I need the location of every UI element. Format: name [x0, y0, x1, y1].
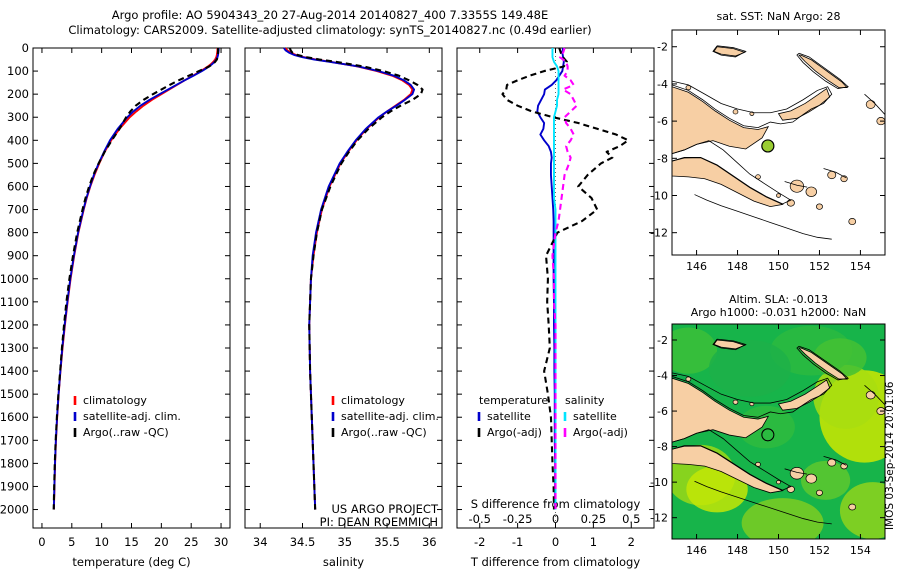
- legend-header-temperature: temperature: [479, 394, 548, 407]
- x-tick-label-salinity: -0.5: [469, 512, 491, 526]
- island: [806, 474, 817, 483]
- float-position-marker: [762, 140, 774, 152]
- island: [866, 391, 875, 399]
- x-tick-label: 152: [809, 544, 830, 557]
- x-tick-label: 34: [253, 535, 268, 549]
- panel-frame: [245, 48, 442, 528]
- landmass: [799, 55, 847, 88]
- series-argo---raw--qc-: [290, 48, 423, 510]
- y-tick-label: 200: [7, 87, 29, 101]
- island: [849, 218, 856, 224]
- sst-map-title: sat. SST: NaN Argo: 28: [717, 10, 841, 23]
- x-tick-label: 146: [686, 260, 707, 273]
- x-tick-label: 148: [727, 544, 748, 557]
- landmass: [672, 158, 783, 207]
- x-axis-label: salinity: [323, 555, 364, 569]
- island: [806, 187, 817, 197]
- x-axis-label-temperature: T difference from climatology: [470, 555, 641, 569]
- x-tick-label-temperature: -1: [512, 535, 523, 549]
- x-tick-label-temperature: 2: [628, 535, 635, 549]
- island: [733, 400, 738, 404]
- legend-label: Argo(..raw -QC): [83, 426, 169, 439]
- legend-label: satellite-adj. clim.: [341, 410, 439, 423]
- profile-panels: 0100200300400500600700800900100011001200…: [0, 0, 660, 580]
- map-content: [672, 46, 885, 239]
- y-tick-label: 100: [7, 64, 29, 78]
- y-tick-label: -8: [657, 441, 668, 454]
- sla-contour-patch: [660, 328, 717, 374]
- island: [787, 200, 794, 207]
- x-tick-label: 152: [809, 260, 830, 273]
- island: [816, 490, 822, 495]
- y-tick-label: 1800: [0, 456, 29, 470]
- y-tick-label: 1000: [0, 272, 29, 286]
- x-tick-label: 35: [337, 535, 352, 549]
- landmass: [672, 87, 768, 154]
- x-tick-label: 150: [768, 544, 789, 557]
- y-tick-label: 300: [7, 110, 29, 124]
- legend-label: Argo(..raw -QC): [341, 426, 427, 439]
- y-tick-label: 900: [7, 249, 29, 263]
- principal-investigator-label: PI: DEAN ROEMMICH: [320, 515, 438, 529]
- y-tick-label: -12: [650, 227, 668, 240]
- y-tick-label: -4: [657, 78, 668, 91]
- island: [776, 480, 780, 484]
- y-tick-label: 0: [22, 41, 29, 55]
- y-tick-label: -10: [650, 189, 668, 202]
- y-tick-label: 700: [7, 203, 29, 217]
- y-tick-label: 1600: [0, 410, 29, 424]
- x-tick-label: 30: [214, 535, 229, 549]
- island: [733, 110, 738, 114]
- island: [849, 504, 856, 510]
- y-tick-label: 1200: [0, 318, 29, 332]
- y-tick-label: -6: [657, 405, 668, 418]
- panel-frame: [33, 48, 230, 528]
- legend-label: climatology: [83, 394, 147, 407]
- sla-map-title-line-1: Altim. SLA: -0.013: [729, 293, 828, 306]
- x-tick-label-salinity: 0.5: [622, 512, 640, 526]
- x-tick-label: 150: [768, 260, 789, 273]
- sla-map: 146148150152154-2-4-6-8-10-12: [650, 324, 900, 557]
- island: [866, 100, 875, 108]
- x-tick-label-salinity: 0.25: [581, 512, 607, 526]
- x-tick-label: 10: [94, 535, 109, 549]
- legend-label: Argo(-adj): [573, 426, 628, 439]
- sla-map-title-line-2: Argo h1000: -0.031 h2000: NaN: [691, 306, 867, 319]
- island: [776, 194, 780, 198]
- x-axis-label: temperature (deg C): [72, 555, 190, 569]
- x-tick-label-temperature: -2: [474, 535, 485, 549]
- y-tick-label: 800: [7, 226, 29, 240]
- island: [828, 459, 836, 466]
- series-climatology: [286, 48, 413, 510]
- legend-label: Argo(-adj): [487, 426, 542, 439]
- x-tick-label: 146: [686, 544, 707, 557]
- series-temperature-satellite: [537, 48, 564, 510]
- legend-header-salinity: salinity: [565, 394, 605, 407]
- x-tick-label: 20: [154, 535, 169, 549]
- us-argo-project-label: US ARGO PROJECT: [331, 502, 439, 516]
- x-tick-label-salinity: -0.25: [503, 512, 533, 526]
- x-tick-label: 154: [850, 544, 871, 557]
- x-tick-label: 148: [727, 260, 748, 273]
- series-climatology: [54, 48, 218, 510]
- map-content: [650, 324, 900, 548]
- y-tick-label: 1500: [0, 387, 29, 401]
- y-tick-label: 1300: [0, 341, 29, 355]
- y-tick-label: -12: [650, 512, 668, 525]
- x-tick-label: 154: [850, 260, 871, 273]
- x-tick-label-temperature: 0: [552, 535, 559, 549]
- legend-label: satellite: [487, 410, 531, 423]
- legend-label: climatology: [341, 394, 405, 407]
- y-tick-label: 1400: [0, 364, 29, 378]
- series-satellite-adj--clim-: [284, 48, 414, 510]
- y-tick-label: -4: [657, 370, 668, 383]
- map-panels: sat. SST: NaN Argo: 28146148150152154-2-…: [650, 0, 900, 580]
- y-tick-label: -2: [657, 334, 668, 347]
- series-argo---raw--qc-: [54, 48, 218, 510]
- y-tick-label: -8: [657, 152, 668, 165]
- y-tick-label: -10: [650, 476, 668, 489]
- x-tick-label: 35.5: [374, 535, 400, 549]
- imos-timestamp: IMOS 03-Sep-2014 20:01:06: [884, 382, 896, 530]
- y-tick-label: -2: [657, 41, 668, 54]
- y-tick-label: -6: [657, 115, 668, 128]
- x-tick-label: 25: [184, 535, 199, 549]
- x-tick-label: 34.5: [290, 535, 316, 549]
- y-tick-label: 400: [7, 133, 29, 147]
- sst-map: 146148150152154-2-4-6-8-10-12: [650, 30, 885, 273]
- series-satellite-adj--clim-: [54, 48, 219, 510]
- island: [828, 171, 836, 178]
- x-tick-label: 15: [124, 535, 139, 549]
- sla-contour-patch: [742, 498, 824, 548]
- y-tick-label: 1700: [0, 433, 29, 447]
- y-tick-label: 2000: [0, 503, 29, 517]
- legend-label: satellite: [573, 410, 617, 423]
- x-tick-label: 5: [68, 535, 75, 549]
- y-tick-label: 1900: [0, 479, 29, 493]
- sla-contour-patch: [709, 340, 791, 397]
- y-tick-label: 1100: [0, 295, 29, 309]
- x-tick-label-temperature: 1: [590, 535, 597, 549]
- figure-root: Argo profile: AO 5904343_20 27-Aug-2014 …: [0, 0, 900, 580]
- x-tick-label: 36: [422, 535, 437, 549]
- island: [816, 204, 822, 210]
- y-tick-label: 500: [7, 156, 29, 170]
- x-tick-label-salinity: 0: [552, 512, 559, 526]
- x-tick-label: 0: [38, 535, 45, 549]
- y-tick-label: 600: [7, 179, 29, 193]
- legend-label: satellite-adj. clim.: [83, 410, 181, 423]
